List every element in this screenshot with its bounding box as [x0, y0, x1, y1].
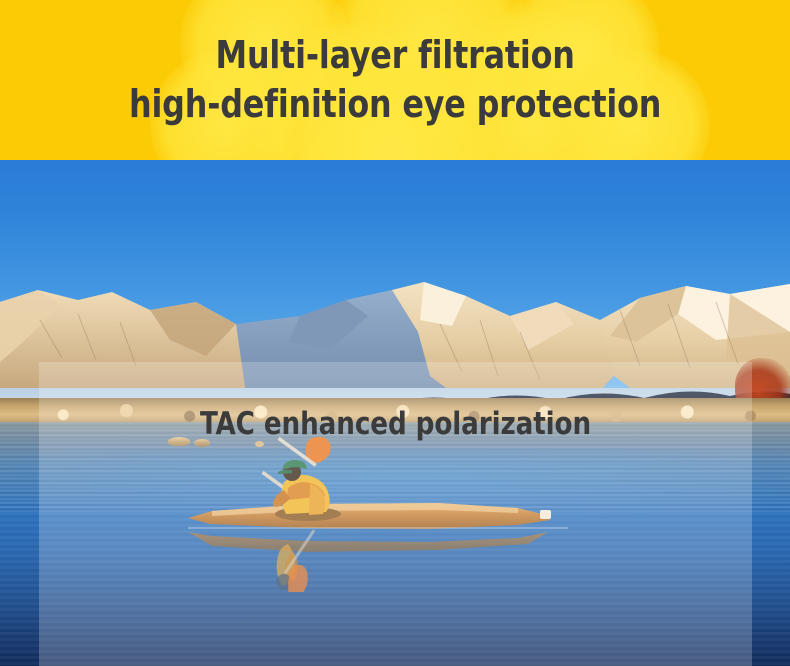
header-title-line-2: high-definition eye protection: [129, 80, 661, 129]
header-title-line-1: Multi-layer filtration: [215, 31, 574, 80]
overlay-title: TAC enhanced polarization: [60, 406, 730, 442]
header-title-block: Multi-layer filtration high-definition e…: [0, 0, 790, 160]
overlay-panel: TAC enhanced polarization: [39, 362, 752, 666]
promo-banner: Multi-layer filtration high-definition e…: [0, 0, 790, 666]
header-band: Multi-layer filtration high-definition e…: [0, 0, 790, 160]
landscape-photo: TAC enhanced polarization: [0, 160, 790, 666]
